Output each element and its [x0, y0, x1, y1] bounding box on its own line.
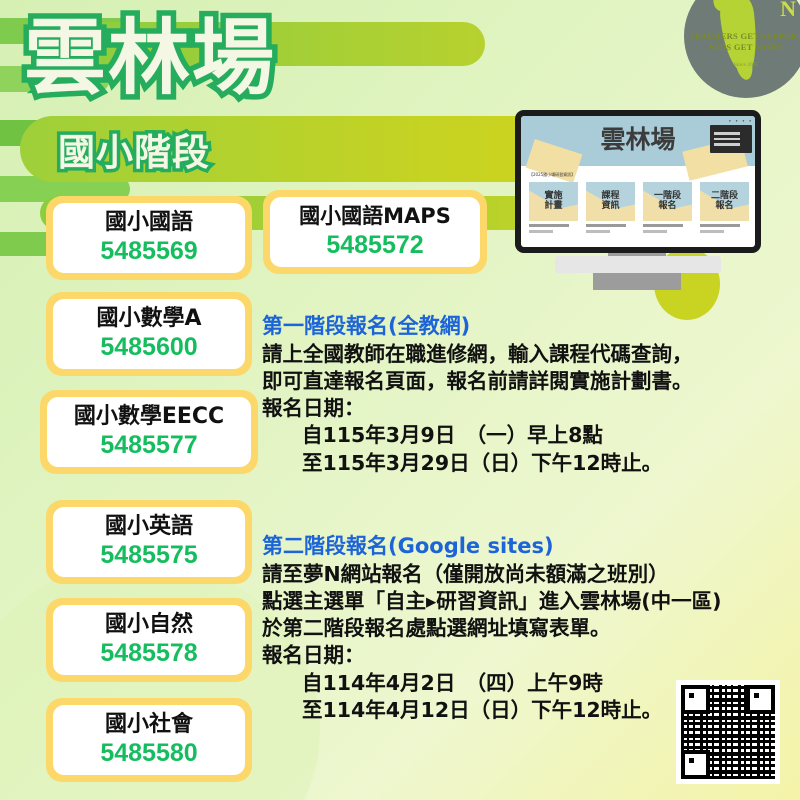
qr-finder-icon: [681, 750, 710, 779]
course-name: 國小數學A: [96, 306, 201, 331]
tile-artwork: 二階段報名: [700, 182, 749, 221]
course-card-inner: 國小社會 5485580: [53, 705, 245, 775]
tile-text-bar: [643, 224, 683, 227]
course-name: 國小自然: [105, 612, 193, 637]
menu-line: [714, 138, 740, 140]
site-tile: 課程資訊: [586, 182, 635, 233]
course-card[interactable]: 國小自然 5485578: [46, 598, 252, 682]
tile-artwork: 實施計畫: [529, 182, 578, 221]
course-name: 國小社會: [105, 712, 193, 737]
site-tile: 實施計畫: [529, 182, 578, 233]
tile-label: 二階段報名: [711, 192, 738, 211]
course-name: 國小國語: [105, 210, 193, 235]
course-code: 5485572: [326, 230, 423, 260]
site-tile: 二階段報名: [700, 182, 749, 233]
course-name: 國小數學EECC: [74, 404, 224, 429]
qr-finder-icon: [681, 685, 710, 714]
tile-label: 課程資訊: [601, 192, 619, 211]
course-card[interactable]: 國小社會 5485580: [46, 698, 252, 782]
course-card-featured[interactable]: 國小國語MAPS 5485572: [263, 190, 487, 274]
tile-artwork: 課程資訊: [586, 182, 635, 221]
tile-label: 一階段報名: [654, 192, 681, 211]
tile-label: 實施計畫: [544, 192, 562, 211]
site-nav: ▾ ▾ ▾ ▾: [729, 119, 751, 123]
logo-since: Since 2015: [684, 62, 800, 68]
hamburger-menu-icon: [710, 125, 752, 153]
course-code: 5485600: [100, 332, 197, 362]
poster-root: N TEACHERS GET SUPPORT KIDS GET MORE Sin…: [0, 0, 800, 800]
stage2-line-2: 點選主選單「自主▸研習資訊」進入雲林場(中一區): [262, 588, 762, 615]
stage1-section: 第一階段報名(全教網) 請上全國教師在職進修網，輸入課程代碼查詢， 即可直達報名…: [262, 312, 732, 477]
nav-item: ▾: [736, 119, 738, 123]
site-tile: 一階段報名: [643, 182, 692, 233]
nav-item: ▾: [729, 119, 731, 123]
stage1-date-from: 自115年3月9日 （一）早上8點: [262, 422, 732, 449]
stage1-date-to: 至115年3月29日（日）下午12時止。: [262, 450, 732, 477]
site-tiles: 實施計畫 課程資訊 一階段報名: [529, 182, 749, 233]
course-code: 5485575: [100, 540, 197, 570]
stage2-date-label: 報名日期：: [262, 642, 762, 669]
monitor-screen: 雲林場 ▾ ▾ ▾ ▾ 【2025國小場研習資訊】 實施計畫: [521, 116, 755, 247]
tile-text-bar: [700, 230, 724, 233]
course-card-inner: 國小國語 5485569: [53, 203, 245, 273]
page-title: 雲林場: [24, 16, 276, 102]
course-code: 5485577: [100, 430, 197, 460]
course-name: 國小英語: [105, 514, 193, 539]
qr-code-pattern: [681, 685, 775, 779]
organization-logo: N TEACHERS GET SUPPORT KIDS GET MORE Sin…: [684, 0, 800, 98]
stage1-line-1: 請上全國教師在職進修網，輸入課程代碼查詢，: [262, 341, 732, 368]
tile-artwork: 一階段報名: [643, 182, 692, 221]
course-card-inner: 國小數學EECC 5485577: [47, 397, 251, 467]
qr-finder-icon: [746, 685, 775, 714]
tile-text-bar: [700, 224, 740, 227]
monitor-stand: [593, 270, 681, 290]
course-code: 5485569: [100, 236, 197, 266]
stage2-title: 第二階段報名(Google sites): [262, 532, 762, 560]
tile-text-bar: [586, 230, 610, 233]
monitor-illustration: 雲林場 ▾ ▾ ▾ ▾ 【2025國小場研習資訊】 實施計畫: [515, 110, 785, 290]
tile-text-bar: [586, 224, 626, 227]
stage2-line-1: 請至夢N網站報名（僅開放尚未額滿之班別）: [262, 561, 762, 588]
nav-item: ▾: [749, 119, 751, 123]
logo-tagline-2: KIDS GET MORE: [684, 42, 800, 52]
course-name: 國小國語MAPS: [299, 204, 451, 228]
menu-line: [714, 132, 740, 134]
monitor-base: [555, 256, 721, 273]
tile-text-bar: [529, 230, 553, 233]
course-card-inner: 國小國語MAPS 5485572: [270, 197, 480, 267]
qr-code[interactable]: [676, 680, 780, 784]
logo-tagline-1: TEACHERS GET SUPPORT: [684, 31, 800, 41]
stage1-date-label: 報名日期：: [262, 395, 732, 422]
course-card[interactable]: 國小英語 5485575: [46, 500, 252, 584]
course-card[interactable]: 國小數學EECC 5485577: [40, 390, 258, 474]
site-breadcrumb: 【2025國小場研習資訊】: [529, 172, 575, 178]
stage1-title: 第一階段報名(全教網): [262, 312, 732, 340]
course-card[interactable]: 國小國語 5485569: [46, 196, 252, 280]
course-code: 5485578: [100, 638, 197, 668]
course-card-inner: 國小自然 5485578: [53, 605, 245, 675]
stage1-line-2: 即可直達報名頁面，報名前請詳閱實施計劃書。: [262, 368, 732, 395]
course-card[interactable]: 國小數學A 5485600: [46, 292, 252, 376]
stage2-line-3: 於第二階段報名處點選網址填寫表單。: [262, 615, 762, 642]
logo-graphic: N TEACHERS GET SUPPORT KIDS GET MORE Sin…: [684, 0, 800, 98]
course-code: 5485580: [100, 738, 197, 768]
menu-line: [714, 143, 740, 145]
course-card-inner: 國小數學A 5485600: [53, 299, 245, 369]
page-subtitle: 國小階段: [58, 133, 210, 174]
nav-item: ▾: [742, 119, 744, 123]
tile-text-bar: [529, 224, 569, 227]
monitor-bezel: 雲林場 ▾ ▾ ▾ ▾ 【2025國小場研習資訊】 實施計畫: [515, 110, 761, 253]
course-card-inner: 國小英語 5485575: [53, 507, 245, 577]
logo-letter-n: N: [780, 0, 796, 22]
tile-text-bar: [643, 230, 667, 233]
